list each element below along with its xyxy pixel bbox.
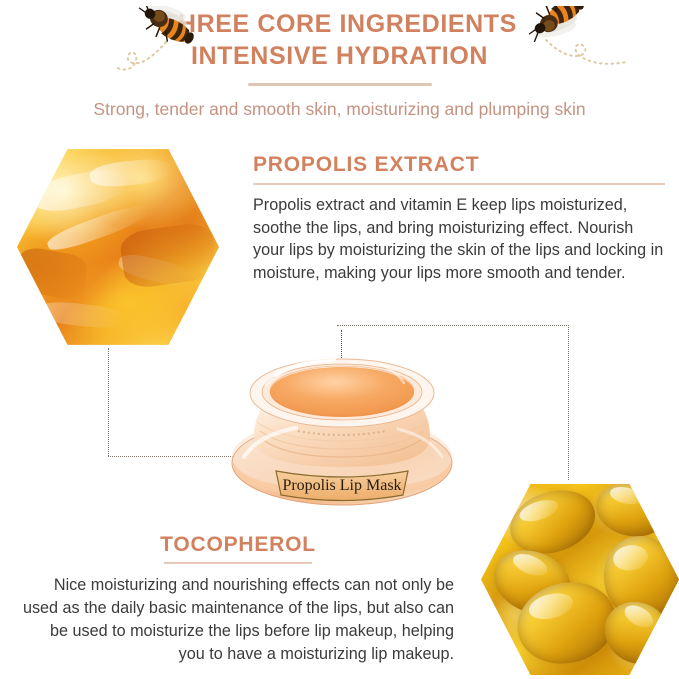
tocopherol-body-text: Nice moisturizing and nourishing effects…: [22, 574, 454, 666]
bee-icon: [104, 6, 234, 78]
lip-mask-jar: Propolis Lip Mask: [218, 345, 466, 513]
honeycomb-hexagon-image: [17, 145, 219, 349]
vitamin-e-capsules-hexagon-image: [481, 480, 679, 679]
title-divider: [248, 83, 432, 86]
propolis-heading: PROPOLIS EXTRACT: [253, 152, 665, 178]
jar-label-text: Propolis Lip Mask: [282, 477, 401, 494]
propolis-section: PROPOLIS EXTRACT Propolis extract and vi…: [253, 152, 665, 284]
bee-left-decoration: [104, 6, 234, 78]
tocopherol-section: TOCOPHEROL Nice moisturizing and nourish…: [22, 532, 454, 666]
bee-icon: [500, 6, 640, 82]
propolis-heading-underline: [253, 183, 665, 185]
connector-left-vertical: [108, 348, 109, 456]
infographic-page: THREE CORE INGREDIENTS INTENSIVE HYDRATI…: [0, 0, 679, 679]
connector-right-vertical: [568, 325, 569, 480]
page-subtitle: Strong, tender and smooth skin, moisturi…: [0, 98, 679, 120]
tocopherol-heading-underline: [164, 562, 312, 564]
propolis-body-text: Propolis extract and vitamin E keep lips…: [253, 194, 665, 284]
connector-right-horizontal: [337, 325, 569, 326]
bee-right-decoration: [500, 6, 640, 82]
tocopherol-heading: TOCOPHEROL: [156, 532, 320, 558]
tocopherol-heading-wrap: TOCOPHEROL: [22, 532, 454, 564]
product-jar-image: Propolis Lip Mask: [218, 345, 466, 513]
